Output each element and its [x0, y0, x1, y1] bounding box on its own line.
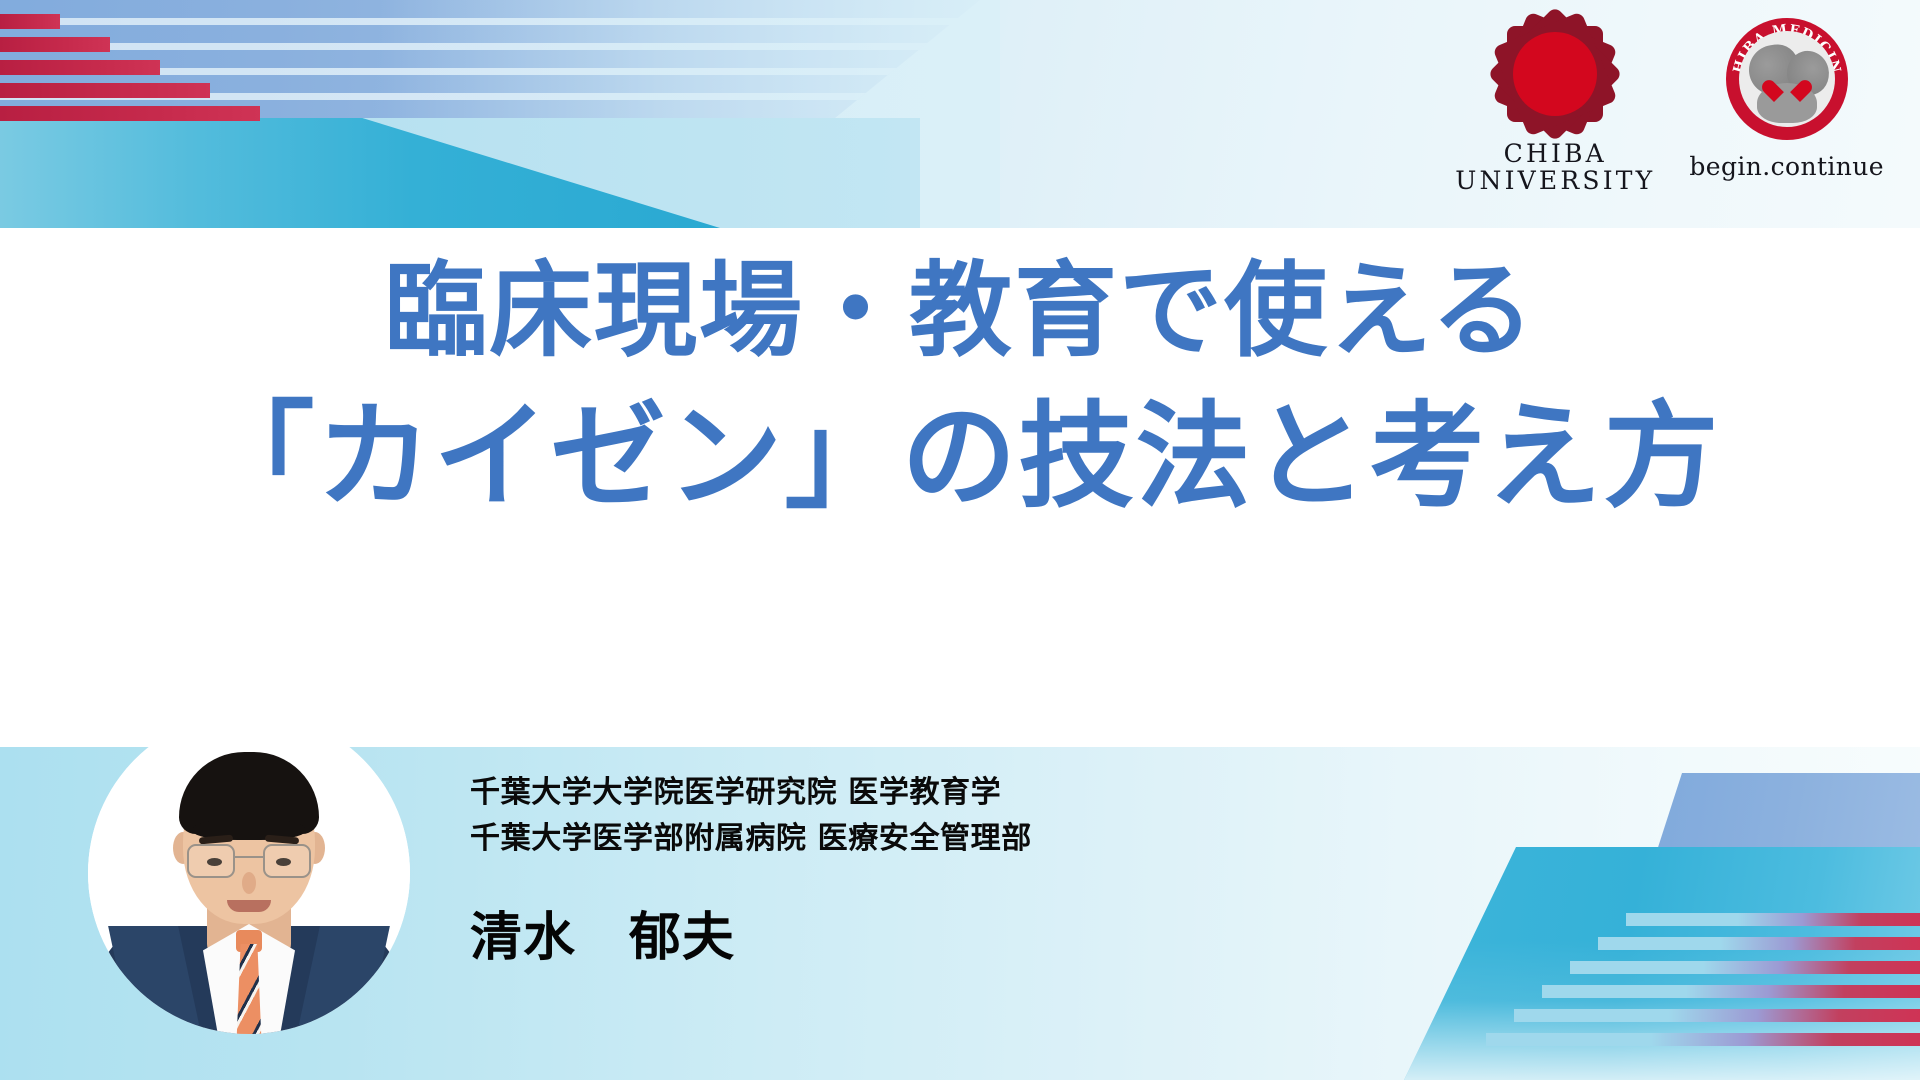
chiba-university-wordmark: CHIBA UNIVERSITY — [1455, 140, 1655, 194]
eyeglasses-icon — [187, 844, 311, 880]
chiba-medicine-tagline: begin.continue — [1689, 152, 1884, 181]
title-slide: CHIBA UNIVERSITY CHIBA MEDICINE Founded … — [0, 0, 1920, 1080]
chiba-medicine-logo: CHIBA MEDICINE Founded 1874 begin.contin… — [1689, 18, 1884, 181]
affiliation-line-1: 千葉大学大学院医学研究院 医学教育学 — [470, 770, 1670, 816]
presenter-info: 千葉大学大学院医学研究院 医学教育学 千葉大学医学部附属病院 医療安全管理部 清… — [470, 770, 1670, 970]
logo-group: CHIBA UNIVERSITY CHIBA MEDICINE Founded … — [1455, 18, 1884, 194]
chiba-university-line1: CHIBA — [1455, 140, 1655, 167]
chiba-university-mark-icon — [1499, 18, 1611, 130]
title-line-2: 「カイゼン」の技法と考え方 — [0, 388, 1920, 526]
chiba-medicine-emblem — [1739, 31, 1835, 127]
heart-icon — [1774, 81, 1800, 105]
chiba-university-logo: CHIBA UNIVERSITY — [1455, 18, 1655, 194]
slide-title: 臨床現場・教育で使える 「カイゼン」の技法と考え方 — [0, 250, 1920, 526]
chiba-university-line2: UNIVERSITY — [1455, 167, 1655, 194]
header-crimson-stripes — [0, 0, 420, 120]
title-line-1: 臨床現場・教育で使える — [0, 250, 1920, 374]
presenter-name: 清水 郁夫 — [470, 895, 1670, 970]
speaker-portrait-photo — [88, 712, 410, 1034]
affiliation-line-2: 千葉大学医学部附属病院 医療安全管理部 — [470, 816, 1670, 862]
chiba-medicine-seal-icon: CHIBA MEDICINE Founded 1874 — [1726, 18, 1848, 140]
